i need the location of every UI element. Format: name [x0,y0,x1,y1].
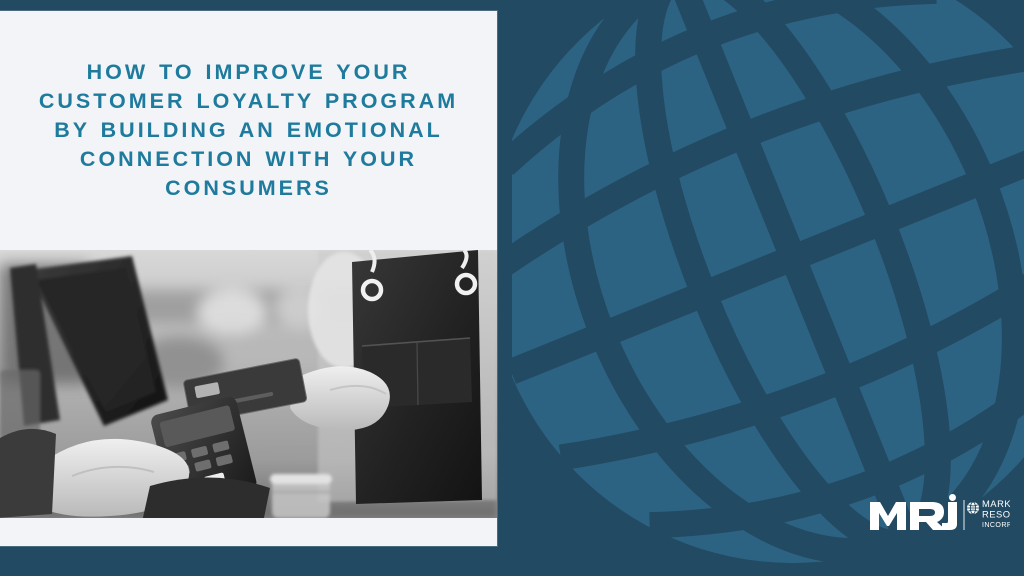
logo-wordmark-icon [870,494,957,530]
logo-line3: INCORPORATED [982,521,1010,529]
logo-line1: MARKETING [982,498,1010,509]
page-title: How to Improve Your Customer Loyalty Pro… [39,58,458,203]
logo-lockup: MARKETING RESOURCES INCORPORATED [868,494,1010,536]
photo-image [0,250,497,518]
logo-divider [964,500,965,530]
cafe-payment-photo-illustration [0,250,497,518]
content-card: How to Improve Your Customer Loyalty Pro… [0,11,497,546]
slide-canvas: How to Improve Your Customer Loyalty Pro… [0,0,1024,576]
headline-block: How to Improve Your Customer Loyalty Pro… [0,11,497,250]
logo-globe-icon [967,502,979,514]
mri-logo: MARKETING RESOURCES INCORPORATED [868,494,1010,536]
logo-line2: RESOURCES [982,509,1010,520]
